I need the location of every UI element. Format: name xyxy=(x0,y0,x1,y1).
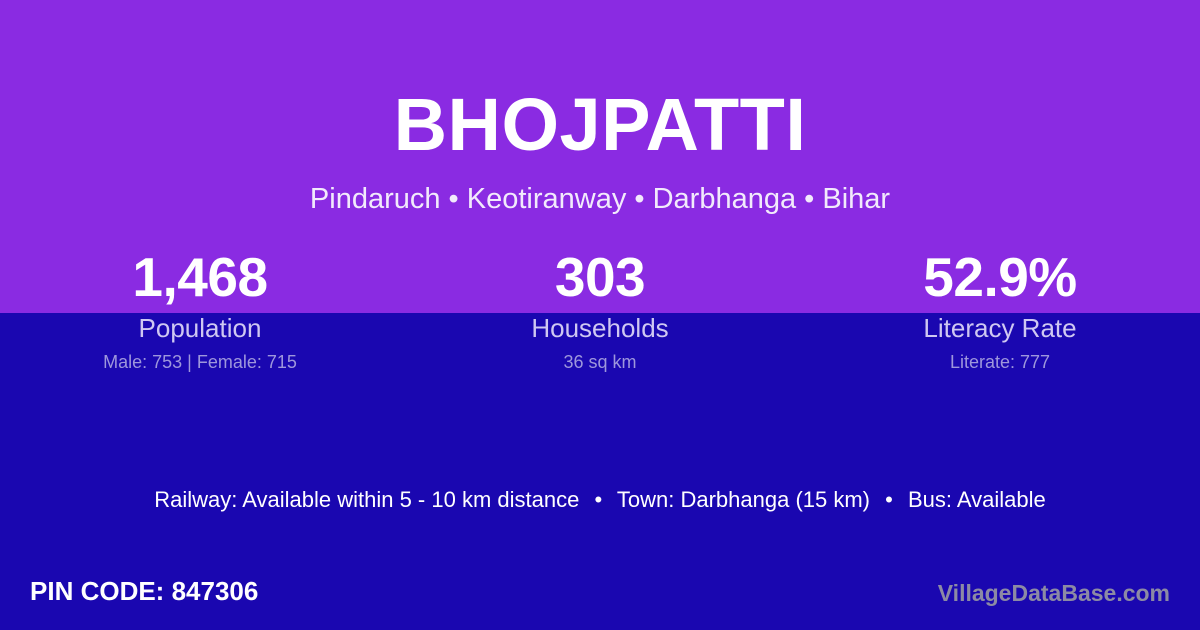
stat-households-label: Households xyxy=(400,313,800,343)
stats-row: 1,468 Population Male: 753 | Female: 715… xyxy=(0,244,1200,373)
infra-item-bus: Bus: Available xyxy=(908,487,1046,512)
stat-population-value: 1,468 xyxy=(0,244,400,310)
infrastructure-row: Railway: Available within 5 - 10 km dist… xyxy=(0,486,1200,514)
stat-literacy-rate: 52.9% Literacy Rate Literate: 777 xyxy=(800,244,1200,373)
breadcrumb: Pindaruch • Keotiranway • Darbhanga • Bi… xyxy=(0,182,1200,216)
stat-population: 1,468 Population Male: 753 | Female: 715 xyxy=(0,244,400,373)
stat-literacy-rate-sub: Literate: 777 xyxy=(800,352,1200,373)
stat-population-sub: Male: 753 | Female: 715 xyxy=(0,352,400,373)
village-info-card: BHOJPATTI Pindaruch • Keotiranway • Darb… xyxy=(0,0,1200,630)
stat-literacy-rate-label: Literacy Rate xyxy=(800,313,1200,343)
page-title: BHOJPATTI xyxy=(0,82,1200,168)
card-footer: PIN CODE: 847306 VillageDataBase.com xyxy=(0,572,1200,630)
bullet-separator-icon: • xyxy=(585,487,611,512)
stat-population-label: Population xyxy=(0,313,400,343)
site-watermark: VillageDataBase.com xyxy=(938,579,1170,607)
infra-item-railway: Railway: Available within 5 - 10 km dist… xyxy=(154,487,579,512)
infra-item-town: Town: Darbhanga (15 km) xyxy=(617,487,870,512)
stat-households-value: 303 xyxy=(400,244,800,310)
pin-code-label: PIN CODE: 847306 xyxy=(30,575,258,607)
stat-households-sub: 36 sq km xyxy=(400,352,800,373)
stat-literacy-rate-value: 52.9% xyxy=(800,244,1200,310)
bullet-separator-icon: • xyxy=(876,487,902,512)
stat-households: 303 Households 36 sq km xyxy=(400,244,800,373)
